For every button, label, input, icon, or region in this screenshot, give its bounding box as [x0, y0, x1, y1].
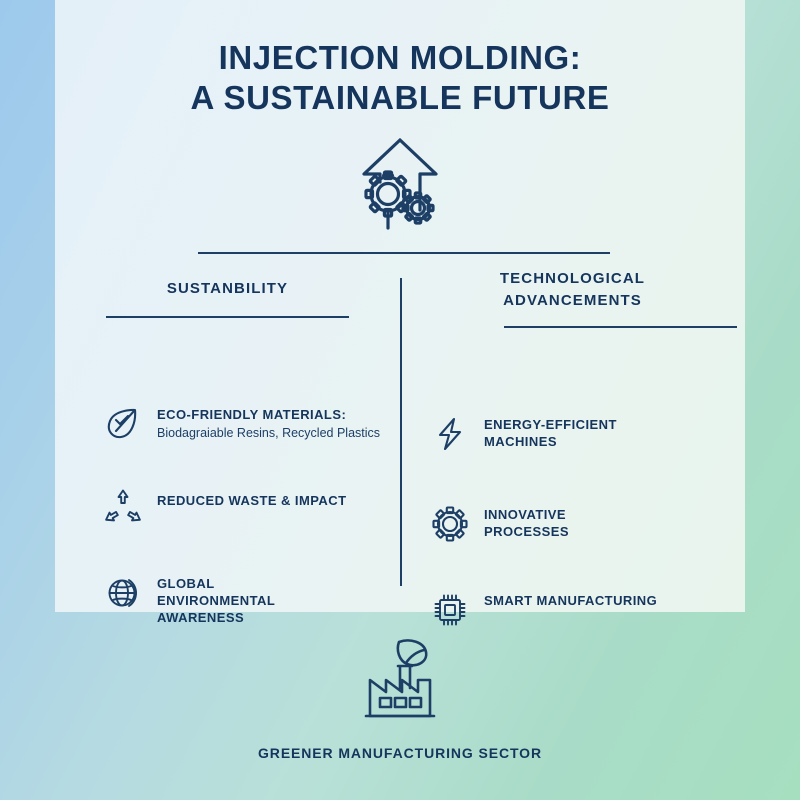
list-item-title: ENERGY-EFFICIENT MACHINES: [484, 416, 617, 450]
gear-icon: [430, 504, 470, 544]
list-item-subtitle: Biodagraiable Resins, Recycled Plastics: [157, 425, 380, 442]
list-item: GLOBAL ENVIRONMENTAL AWARENESS: [103, 573, 275, 626]
column-heading-sustainability: SUSTANBILITY: [55, 268, 400, 300]
upward-arrow-with-gears-icon: [344, 132, 456, 244]
column-technological-advancements: TECHNOLOGICAL ADVANCEMENTS ENERGY-EFFICI…: [400, 268, 745, 328]
list-item-text: GLOBAL ENVIRONMENTAL AWARENESS: [157, 573, 275, 626]
leaf-icon: [103, 404, 143, 444]
page-title: INJECTION MOLDING: A SUSTAINABLE FUTURE: [55, 38, 745, 118]
list-item: INNOVATIVE PROCESSES: [430, 504, 569, 544]
column-heading-technological-advancements: TECHNOLOGICAL ADVANCEMENTS: [400, 268, 745, 312]
list-item-text: INNOVATIVE PROCESSES: [484, 504, 569, 540]
list-item-text: REDUCED WASTE & IMPACT: [157, 490, 347, 509]
factory-with-leaf-icon: [352, 630, 448, 726]
list-item-title: ECO-FRIENDLY MATERIALS:: [157, 406, 380, 423]
header-divider: [198, 252, 610, 254]
title-line-1: INJECTION MOLDING:: [55, 38, 745, 78]
column-sustainability: SUSTANBILITY ECO-FRIENDLY MATERIALS: Bio…: [55, 268, 400, 318]
list-item: ECO-FRIENDLY MATERIALS: Biodagraiable Re…: [103, 404, 380, 444]
microchip-icon: [430, 590, 470, 630]
column-heading-rule: [106, 316, 349, 318]
list-item-text: ECO-FRIENDLY MATERIALS: Biodagraiable Re…: [157, 404, 380, 442]
content-card: INJECTION MOLDING: A SUSTAINABLE FUTURE: [55, 0, 745, 612]
infographic-poster: INJECTION MOLDING: A SUSTAINABLE FUTURE: [0, 0, 800, 800]
footer-caption: GREENER MANUFACTURING SECTOR: [0, 745, 800, 761]
lightning-bolt-icon: [430, 414, 470, 454]
list-item-title: INNOVATIVE PROCESSES: [484, 506, 569, 540]
list-item-title: SMART MANUFACTURING: [484, 592, 657, 609]
recycle-icon: [103, 490, 143, 530]
list-item: ENERGY-EFFICIENT MACHINES: [430, 414, 617, 454]
list-item-text: ENERGY-EFFICIENT MACHINES: [484, 414, 617, 450]
globe-icon: [103, 573, 143, 613]
title-line-2: A SUSTAINABLE FUTURE: [55, 78, 745, 118]
list-item-text: SMART MANUFACTURING: [484, 590, 657, 609]
list-item: REDUCED WASTE & IMPACT: [103, 490, 347, 530]
list-item-title: GLOBAL ENVIRONMENTAL AWARENESS: [157, 575, 275, 626]
column-heading-rule: [504, 326, 737, 328]
list-item-title: REDUCED WASTE & IMPACT: [157, 492, 347, 509]
list-item: SMART MANUFACTURING: [430, 590, 657, 630]
